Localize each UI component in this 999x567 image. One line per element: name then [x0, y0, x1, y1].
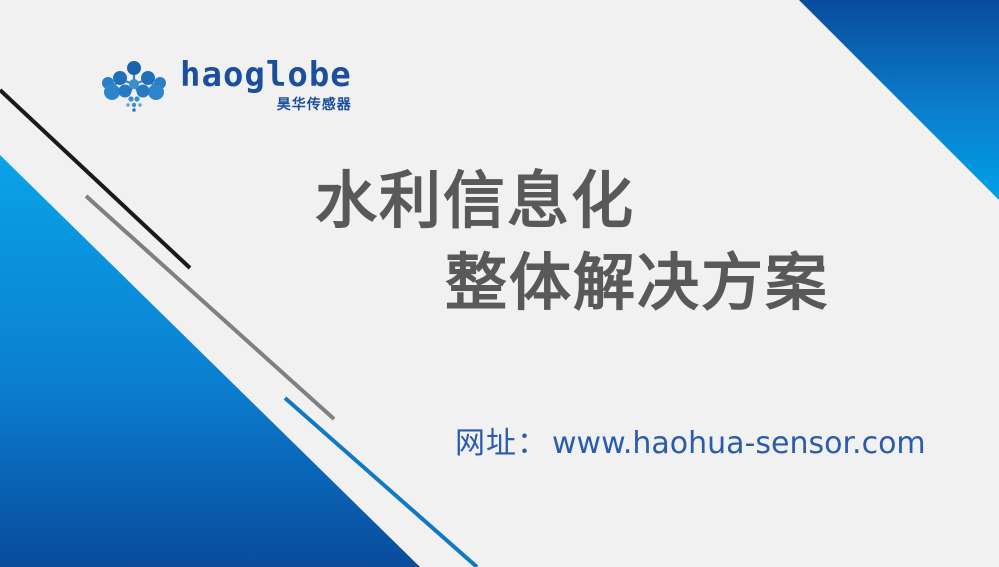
website-line: 网址： www.haohua-sensor.com — [455, 418, 926, 462]
slide-title: 水利信息化 整体解决方案 — [0, 160, 999, 324]
company-logo: haoglobe 昊华传感器 — [98, 58, 352, 114]
title-line-1: 水利信息化 — [0, 160, 999, 242]
presentation-title-slide: haoglobe 昊华传感器 水利信息化 整体解决方案 网址： www.haoh… — [0, 0, 999, 567]
network-node-icon — [98, 58, 170, 114]
logo-wordmark: haoglobe — [180, 58, 352, 92]
website-label: 网址： — [455, 418, 548, 462]
logo-subtitle-chinese: 昊华传感器 — [277, 94, 352, 114]
title-line-2: 整体解决方案 — [0, 242, 999, 324]
logo-text-group: haoglobe 昊华传感器 — [180, 58, 352, 114]
website-url[interactable]: www.haohua-sensor.com — [552, 426, 926, 461]
